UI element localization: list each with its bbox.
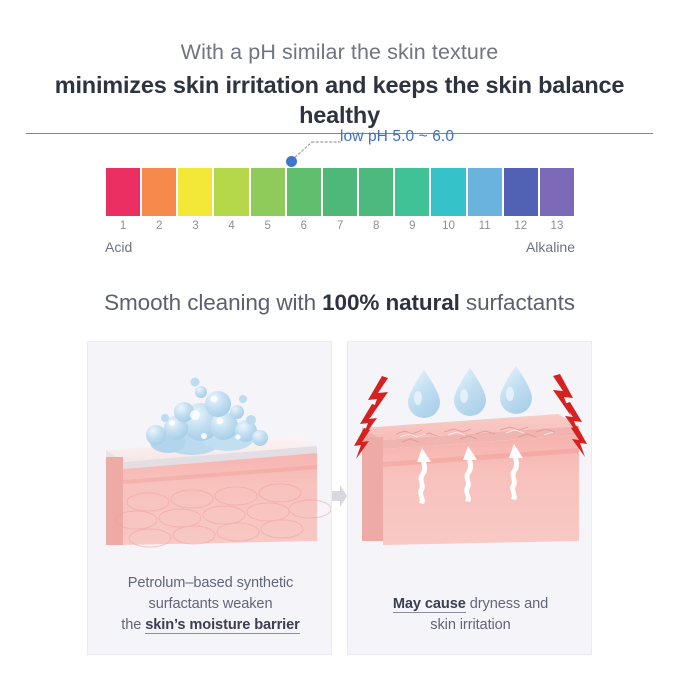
caption-prefix: the <box>121 617 145 633</box>
headline-block: With a pH similar the skin texture minim… <box>0 38 679 134</box>
headline-title-wrap: minimizes skin irritation and keeps the … <box>0 70 679 134</box>
panel-right-caption: May cause dryness and skin irritation <box>348 594 592 636</box>
ph-swatch-4 <box>214 168 248 216</box>
caption-line: surfactants weaken <box>88 594 332 615</box>
ph-endpoint-labels: Acid Alkaline <box>106 239 574 257</box>
ph-number-6: 6 <box>287 220 321 232</box>
ph-swatch-12 <box>504 168 538 216</box>
ph-swatch-3 <box>178 168 212 216</box>
callout-leader-line <box>290 138 342 162</box>
ph-swatch-7 <box>323 168 357 216</box>
section-heading-suffix: surfactants <box>460 290 575 315</box>
infographic-page: With a pH similar the skin texture minim… <box>0 0 679 679</box>
caption-line: skin irritation <box>348 615 592 636</box>
ph-swatch-9 <box>395 168 429 216</box>
panel-petrolum-surfactants: Petrolum–based synthetic surfactants wea… <box>87 341 332 655</box>
caption-suffix: dryness and <box>466 596 548 612</box>
caption-line: Petrolum–based synthetic <box>88 573 332 594</box>
ph-swatch-10 <box>431 168 465 216</box>
ph-swatch-8 <box>359 168 393 216</box>
ph-number-1: 1 <box>106 220 140 232</box>
ph-number-2: 2 <box>142 220 176 232</box>
ph-number-5: 5 <box>251 220 285 232</box>
ph-number-8: 8 <box>359 220 393 232</box>
caption-emphasis: May cause <box>393 596 466 613</box>
ph-swatch-13 <box>540 168 574 216</box>
page-title: minimizes skin irritation and keeps the … <box>26 70 653 134</box>
ph-swatch-6 <box>287 168 321 216</box>
skin-block-with-foam-illustration <box>88 342 332 557</box>
ph-number-13: 13 <box>540 220 574 232</box>
ph-number-3: 3 <box>178 220 212 232</box>
ph-number-9: 9 <box>395 220 429 232</box>
ph-number-4: 4 <box>214 220 248 232</box>
caption-line: May cause dryness and <box>348 594 592 615</box>
ph-alkaline-label: Alkaline <box>526 239 575 255</box>
panel-left-caption: Petrolum–based synthetic surfactants wea… <box>88 573 332 636</box>
ph-acid-label: Acid <box>105 239 132 255</box>
ph-swatch-row <box>106 168 574 216</box>
ph-number-11: 11 <box>468 220 502 232</box>
ph-number-10: 10 <box>431 220 465 232</box>
ph-number-12: 12 <box>504 220 538 232</box>
section-heading-emphasis: 100% natural <box>322 290 460 315</box>
panel-dryness-irritation: May cause dryness and skin irritation <box>347 341 592 655</box>
section-heading-prefix: Smooth cleaning with <box>104 290 322 315</box>
comparison-panels: Petrolum–based synthetic surfactants wea… <box>87 341 592 655</box>
ph-scale: 12345678910111213 Acid Alkaline <box>106 168 574 257</box>
ph-swatch-5 <box>251 168 285 216</box>
ph-callout-label: low pH 5.0 ~ 6.0 <box>340 128 454 146</box>
ph-marker-dot <box>286 156 297 167</box>
ph-swatch-11 <box>468 168 502 216</box>
ph-swatch-2 <box>142 168 176 216</box>
caption-line: the skin’s moisture barrier <box>88 615 332 636</box>
caption-emphasis: skin’s moisture barrier <box>145 617 300 634</box>
arrow-right-icon <box>332 483 347 509</box>
ph-swatch-1 <box>106 168 140 216</box>
ph-number-7: 7 <box>323 220 357 232</box>
skin-block-with-water-loss-illustration <box>348 342 592 557</box>
ph-number-row: 12345678910111213 <box>106 220 574 232</box>
section-heading: Smooth cleaning with 100% natural surfac… <box>0 290 679 316</box>
headline-subtitle: With a pH similar the skin texture <box>0 38 679 66</box>
